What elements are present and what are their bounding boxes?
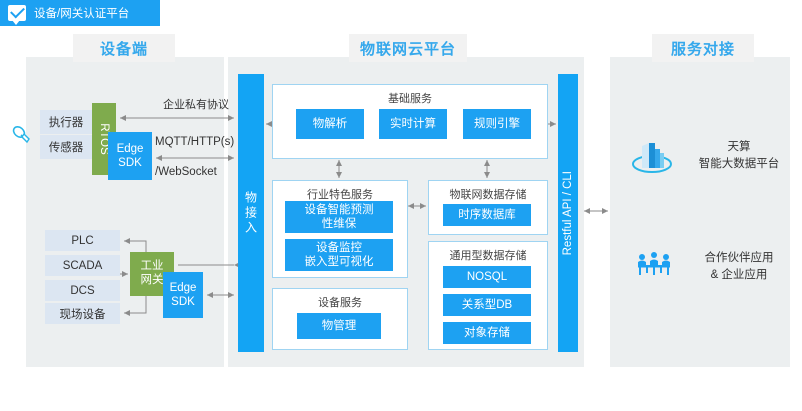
edge-sdk-line1: Edge — [117, 142, 144, 156]
group-iot-storage-title: 物联网数据存储 — [429, 186, 547, 202]
group-industry-services-title: 行业特色服务 — [273, 186, 407, 202]
box-realtime-computing: 实时计算 — [379, 109, 447, 139]
group-general-storage-title: 通用型数据存储 — [429, 247, 547, 263]
edge-sdk2-line1: Edge — [170, 281, 197, 295]
big-data-building-icon — [630, 138, 674, 178]
group-device-services-title: 设备服务 — [273, 294, 407, 310]
bar-restful-api-label: Restful API / CLI — [562, 171, 574, 255]
box-timeseries-db: 时序数据库 — [443, 204, 531, 226]
partner-line2: & 企业应用 — [684, 267, 794, 284]
box-nosql: NOSQL — [443, 266, 531, 288]
diagram-canvas: 设备端 物联网云平台 服务对接 — [0, 0, 802, 411]
check-bubble-icon — [8, 5, 26, 21]
label-protocol-websocket: /WebSocket — [155, 166, 251, 178]
label-scada: SCADA — [45, 255, 120, 276]
bar-iot-hub: 物接入 — [238, 74, 264, 352]
tiansuan-line1: 天算 — [684, 139, 794, 156]
bar-iot-hub-label: 物接入 — [243, 191, 260, 236]
label-plc: PLC — [45, 230, 120, 251]
box-edge-sdk-gateway: Edge SDK — [163, 272, 203, 318]
label-dcs: DCS — [45, 280, 120, 301]
predictive-line1: 设备智能预测 — [305, 203, 374, 217]
gateway-line1: 工业 — [141, 260, 164, 274]
box-thing-parsing: 物解析 — [296, 109, 364, 139]
edge-sdk2-line2: SDK — [171, 295, 195, 309]
bar-restful-api: Restful API / CLI — [558, 74, 578, 352]
partner-people-icon — [632, 248, 676, 282]
box-edge-sdk-device: Edge SDK — [108, 132, 152, 180]
link-icon — [10, 122, 36, 148]
label-tiansuan: 天算 智能大数据平台 — [684, 139, 794, 174]
partner-line1: 合作伙伴应用 — [684, 250, 794, 267]
box-auth-platform: 设备/网关认证平台 — [0, 0, 160, 26]
panel-service-docking — [610, 57, 790, 367]
label-actuator: 执行器 — [40, 110, 92, 134]
monitoring-line1: 设备监控 — [316, 241, 362, 255]
box-object-storage: 对象存储 — [443, 322, 531, 344]
predictive-line2: 性维保 — [322, 217, 357, 231]
header-cloud-platform: 物联网云平台 — [349, 34, 467, 62]
label-sensor: 传感器 — [40, 135, 92, 159]
box-thing-management: 物管理 — [297, 313, 381, 339]
box-rule-engine: 规则引擎 — [463, 109, 531, 139]
box-relational-db: 关系型DB — [443, 294, 531, 316]
label-protocol-mqtt: MQTT/HTTP(s) — [155, 136, 251, 148]
group-basic-services-title: 基础服务 — [273, 90, 547, 106]
auth-platform-label: 设备/网关认证平台 — [34, 5, 129, 21]
label-field-device: 现场设备 — [45, 303, 120, 324]
label-partner: 合作伙伴应用 & 企业应用 — [684, 250, 794, 285]
edge-sdk-line2: SDK — [118, 156, 142, 170]
box-device-monitoring: 设备监控 嵌入型可视化 — [285, 239, 393, 271]
header-service-docking: 服务对接 — [652, 34, 754, 62]
header-device-side: 设备端 — [73, 34, 175, 62]
tiansuan-line2: 智能大数据平台 — [684, 156, 794, 173]
box-predictive-maintenance: 设备智能预测 性维保 — [285, 201, 393, 233]
monitoring-line2: 嵌入型可视化 — [305, 255, 374, 269]
gateway-line2: 网关 — [141, 274, 164, 288]
